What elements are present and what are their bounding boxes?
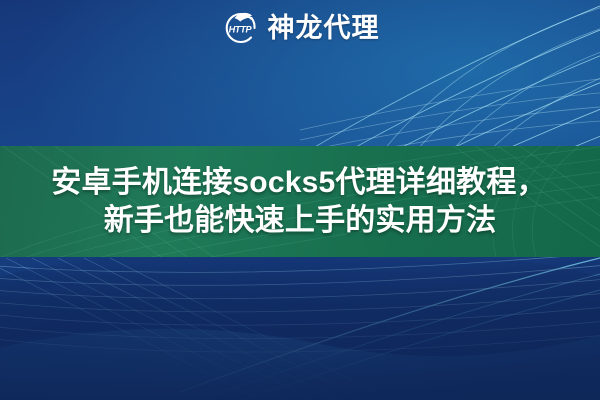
brand-name: 神龙代理 bbox=[268, 15, 380, 42]
title-line-2: 新手也能快速上手的实用方法 bbox=[104, 203, 497, 238]
title-text-block: 安卓手机连接socks5代理详细教程， 新手也能快速上手的实用方法 bbox=[0, 146, 600, 257]
dragon-head-http-circle-logo: HTTP bbox=[221, 9, 259, 47]
title-line-1: 安卓手机连接socks5代理详细教程， bbox=[51, 165, 549, 200]
brand-header: HTTP 神龙代理 bbox=[0, 6, 600, 50]
promo-banner: HTTP 神龙代理 bbox=[0, 0, 600, 400]
title-band: 安卓手机连接socks5代理详细教程， 新手也能快速上手的实用方法 bbox=[0, 146, 600, 257]
svg-text:HTTP: HTTP bbox=[228, 24, 252, 34]
background-lower-shade bbox=[0, 248, 600, 400]
